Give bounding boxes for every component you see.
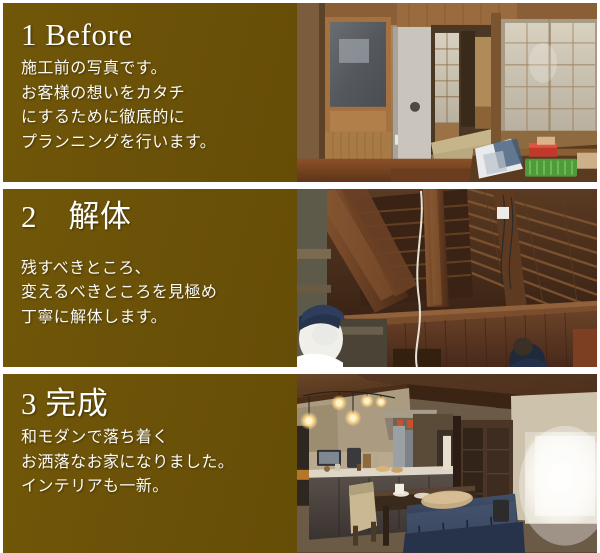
panel-completed-heading: 3 完成 — [21, 386, 297, 422]
body-line: プランニングを行います。 — [21, 131, 297, 156]
body-line: 丁寧に解体します。 — [21, 306, 297, 331]
body-line: お客様の想いをカタチ — [21, 82, 297, 107]
body-line: 変えるべきところを見極め — [21, 281, 297, 306]
completed-photo — [297, 374, 597, 553]
renovation-steps-graphic: 1 Before 施工前の写真です。 お客様の想いをカタチ にするために徹底的に… — [0, 0, 600, 553]
panel-before-text-block: 1 Before 施工前の写真です。 お客様の想いをカタチ にするために徹底的に… — [3, 3, 297, 182]
panel-before: 1 Before 施工前の写真です。 お客様の想いをカタチ にするために徹底的に… — [3, 3, 597, 182]
panel-before-body: 施工前の写真です。 お客様の想いをカタチ にするために徹底的に プランニングを行… — [21, 57, 297, 155]
before-photo — [297, 3, 597, 182]
body-line: にするために徹底的に — [21, 106, 297, 131]
panel-demolition-text-block: 2 解体 残すべきところ、 変えるべきところを見極め 丁寧に解体します。 — [3, 189, 297, 368]
demolition-photo — [297, 189, 597, 368]
body-line: 施工前の写真です。 — [21, 57, 297, 82]
body-line: 残すべきところ、 — [21, 257, 297, 282]
panel-demolition-body: 残すべきところ、 変えるべきところを見極め 丁寧に解体します。 — [21, 257, 297, 331]
body-line: 和モダンで落ち着く — [21, 426, 297, 451]
panel-completed: 3 完成 和モダンで落ち着く お洒落なお家になりました。 インテリアも一新。 — [3, 374, 597, 553]
panel-demolition-heading: 2 解体 — [21, 199, 297, 235]
panel-completed-body: 和モダンで落ち着く お洒落なお家になりました。 インテリアも一新。 — [21, 426, 297, 500]
body-line: インテリアも一新。 — [21, 475, 297, 500]
panel-before-heading: 1 Before — [21, 17, 297, 53]
body-line: お洒落なお家になりました。 — [21, 451, 297, 476]
panel-completed-text-block: 3 完成 和モダンで落ち着く お洒落なお家になりました。 インテリアも一新。 — [3, 374, 297, 553]
panel-demolition: 2 解体 残すべきところ、 変えるべきところを見極め 丁寧に解体します。 — [3, 189, 597, 368]
